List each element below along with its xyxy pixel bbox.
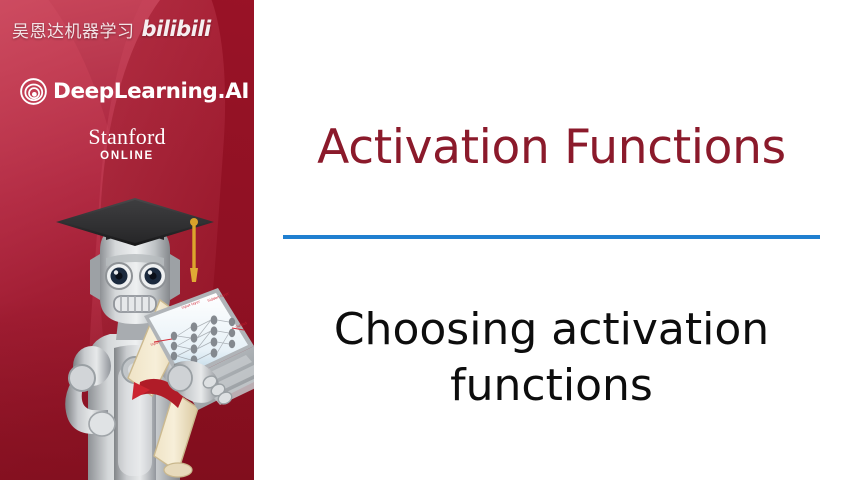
graduate-robot-illustration: input layer hidden layer input output xyxy=(0,196,254,480)
subtitle-line-2: functions xyxy=(283,358,820,414)
bilibili-watermark: 吴恩达机器学习 bilibili xyxy=(0,0,254,58)
page-subtitle: Choosing activation functions xyxy=(283,302,820,415)
presentation-slide: 吴恩达机器学习 bilibili DeepLearning.AI Stanfor… xyxy=(0,0,852,480)
bilibili-course-title: 吴恩达机器学习 xyxy=(12,17,135,42)
subtitle-line-1: Choosing activation xyxy=(283,302,820,358)
subtitle-block: Choosing activation functions xyxy=(283,302,820,415)
page-title: Activation Functions xyxy=(283,122,820,175)
spiral-logo-icon xyxy=(20,78,47,105)
title-divider xyxy=(283,235,820,239)
stanford-online-subtext: ONLINE xyxy=(0,150,254,162)
title-block: Activation Functions xyxy=(283,122,820,175)
stanford-online-logo: Stanford ONLINE xyxy=(0,126,254,162)
slide-content-area: Activation Functions Choosing activation… xyxy=(254,0,852,480)
deeplearning-ai-wordmark: DeepLearning.AI xyxy=(53,79,249,104)
deeplearning-ai-logo: DeepLearning.AI xyxy=(20,78,249,105)
bilibili-logo: bilibili xyxy=(142,17,211,41)
stanford-wordmark: Stanford xyxy=(0,126,254,149)
robot-graphic: input layer hidden layer input output xyxy=(22,196,254,480)
